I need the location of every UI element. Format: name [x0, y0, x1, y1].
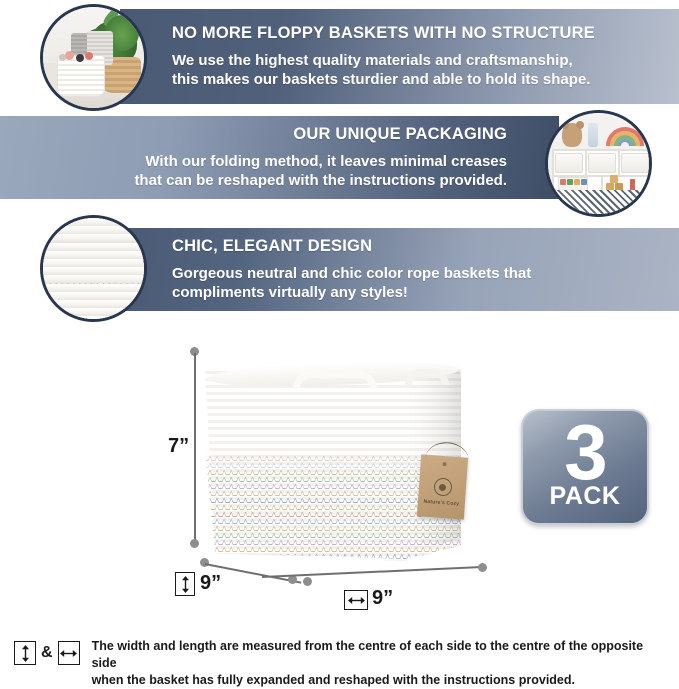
photo-cubby-shelf-image	[548, 113, 649, 214]
guide-dot-height-bottom	[190, 539, 199, 548]
feature-title-packaging: OUR UNIQUE PACKAGING	[293, 125, 507, 145]
hang-tag-brand: Nature's Cozy	[418, 498, 465, 507]
guide-dot-width-end	[478, 563, 487, 572]
guide-line-height	[194, 353, 196, 543]
dimension-width-value: 9”	[372, 587, 393, 610]
footnote-width-icon-box	[58, 641, 80, 665]
feature-banner-structure: NO MORE FLOPPY BASKETS WITH NO STRUCTURE…	[120, 9, 679, 104]
feature-photo-rope-texture	[40, 215, 147, 322]
vertical-double-arrow-icon	[181, 576, 190, 593]
pack-count-number: 3	[564, 421, 605, 483]
photo-baskets-with-plants-image	[43, 7, 144, 108]
pack-count-label: PACK	[550, 484, 621, 509]
feature-body-design-line2: compliments virtually any styles!	[172, 283, 408, 302]
depth-icon-box	[175, 572, 195, 596]
feature-body-design-line1: Gorgeous neutral and chic color rope bas…	[172, 264, 531, 283]
width-icon-box	[344, 590, 368, 610]
footnote-icon-group: &	[14, 641, 80, 665]
footnote-line1: The width and length are measured from t…	[92, 638, 669, 672]
feature-body-packaging-line1: With our folding method, it leaves minim…	[145, 152, 507, 171]
footnote-line2: when the basket has fully expanded and r…	[92, 672, 669, 689]
feature-photo-cubby-shelf	[545, 110, 652, 217]
brand-logo-icon	[433, 477, 452, 496]
vertical-double-arrow-icon	[21, 645, 30, 662]
horizontal-double-arrow-icon	[348, 596, 365, 605]
feature-title-design: CHIC, ELEGANT DESIGN	[172, 237, 372, 257]
feature-photo-baskets-with-plants	[40, 4, 147, 111]
guide-dot-width-start	[303, 577, 312, 586]
pack-count-badge: 3 PACK	[521, 409, 649, 525]
horizontal-double-arrow-icon	[60, 649, 77, 658]
feature-banner-packaging: OUR UNIQUE PACKAGING With our folding me…	[0, 116, 559, 199]
photo-rope-texture-image	[43, 218, 144, 319]
feature-body-structure-line2: this makes our baskets sturdier and able…	[172, 70, 590, 89]
measurement-footnote: & The width and length are measured from…	[14, 638, 669, 689]
feature-banner-design: CHIC, ELEGANT DESIGN Gorgeous neutral an…	[120, 228, 679, 311]
product-basket-image: Nature's Cozy	[205, 353, 461, 565]
footnote-separator: &	[41, 644, 53, 662]
footnote-height-icon-box	[14, 641, 36, 665]
feature-body-structure-line1: We use the highest quality materials and…	[172, 51, 573, 70]
dimension-depth-value: 9”	[200, 572, 221, 595]
product-hang-tag: Nature's Cozy	[417, 454, 468, 519]
guide-line-width	[262, 566, 482, 578]
dimension-height-value: 7”	[168, 435, 189, 458]
footnote-text: The width and length are measured from t…	[92, 638, 669, 689]
feature-title-structure: NO MORE FLOPPY BASKETS WITH NO STRUCTURE	[172, 24, 595, 44]
feature-body-packaging-line2: that can be reshaped with the instructio…	[134, 171, 507, 190]
